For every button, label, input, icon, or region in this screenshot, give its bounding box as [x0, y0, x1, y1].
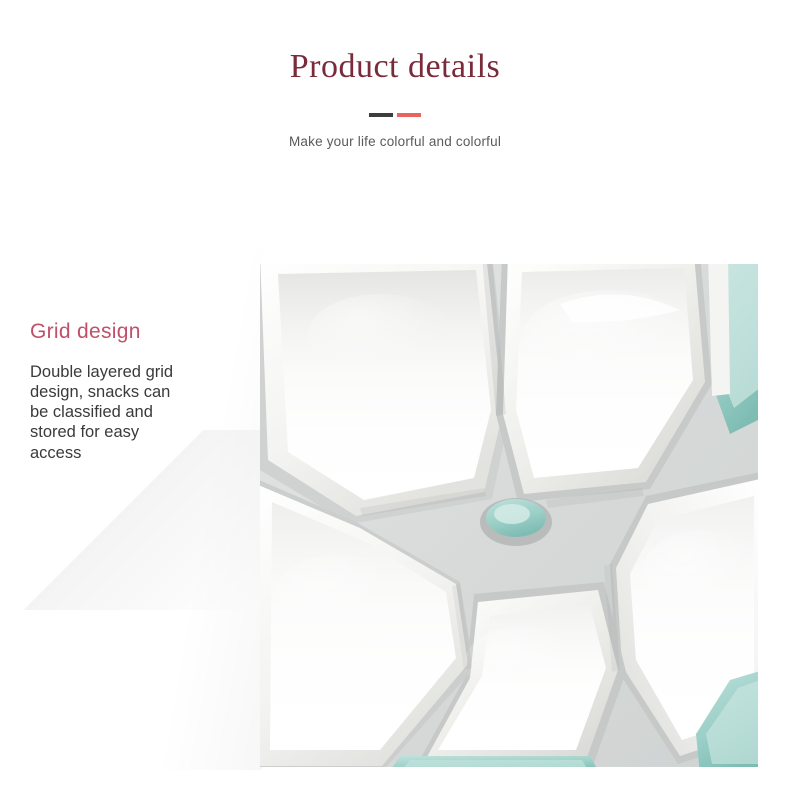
page-root: Product details Make your life colorful … — [0, 0, 790, 810]
feature-heading: Grid design — [30, 320, 250, 344]
page-subtitle: Make your life colorful and colorful — [0, 134, 790, 149]
divider-red-dash — [397, 113, 421, 117]
divider-dark-dash — [369, 113, 393, 117]
product-photo — [260, 264, 758, 767]
tray-center-hub — [480, 498, 552, 546]
header: Product details Make your life colorful … — [0, 48, 790, 149]
feature-body: Double layered grid design, snacks can b… — [30, 362, 250, 463]
feature-text-block: Grid design Double layered grid design, … — [30, 320, 250, 463]
product-photo-illustration — [260, 264, 758, 767]
page-title: Product details — [0, 48, 790, 85]
tray-compartment-top-left — [260, 264, 510, 524]
tray-base-mint-accent — [388, 756, 600, 767]
title-divider — [367, 113, 423, 117]
